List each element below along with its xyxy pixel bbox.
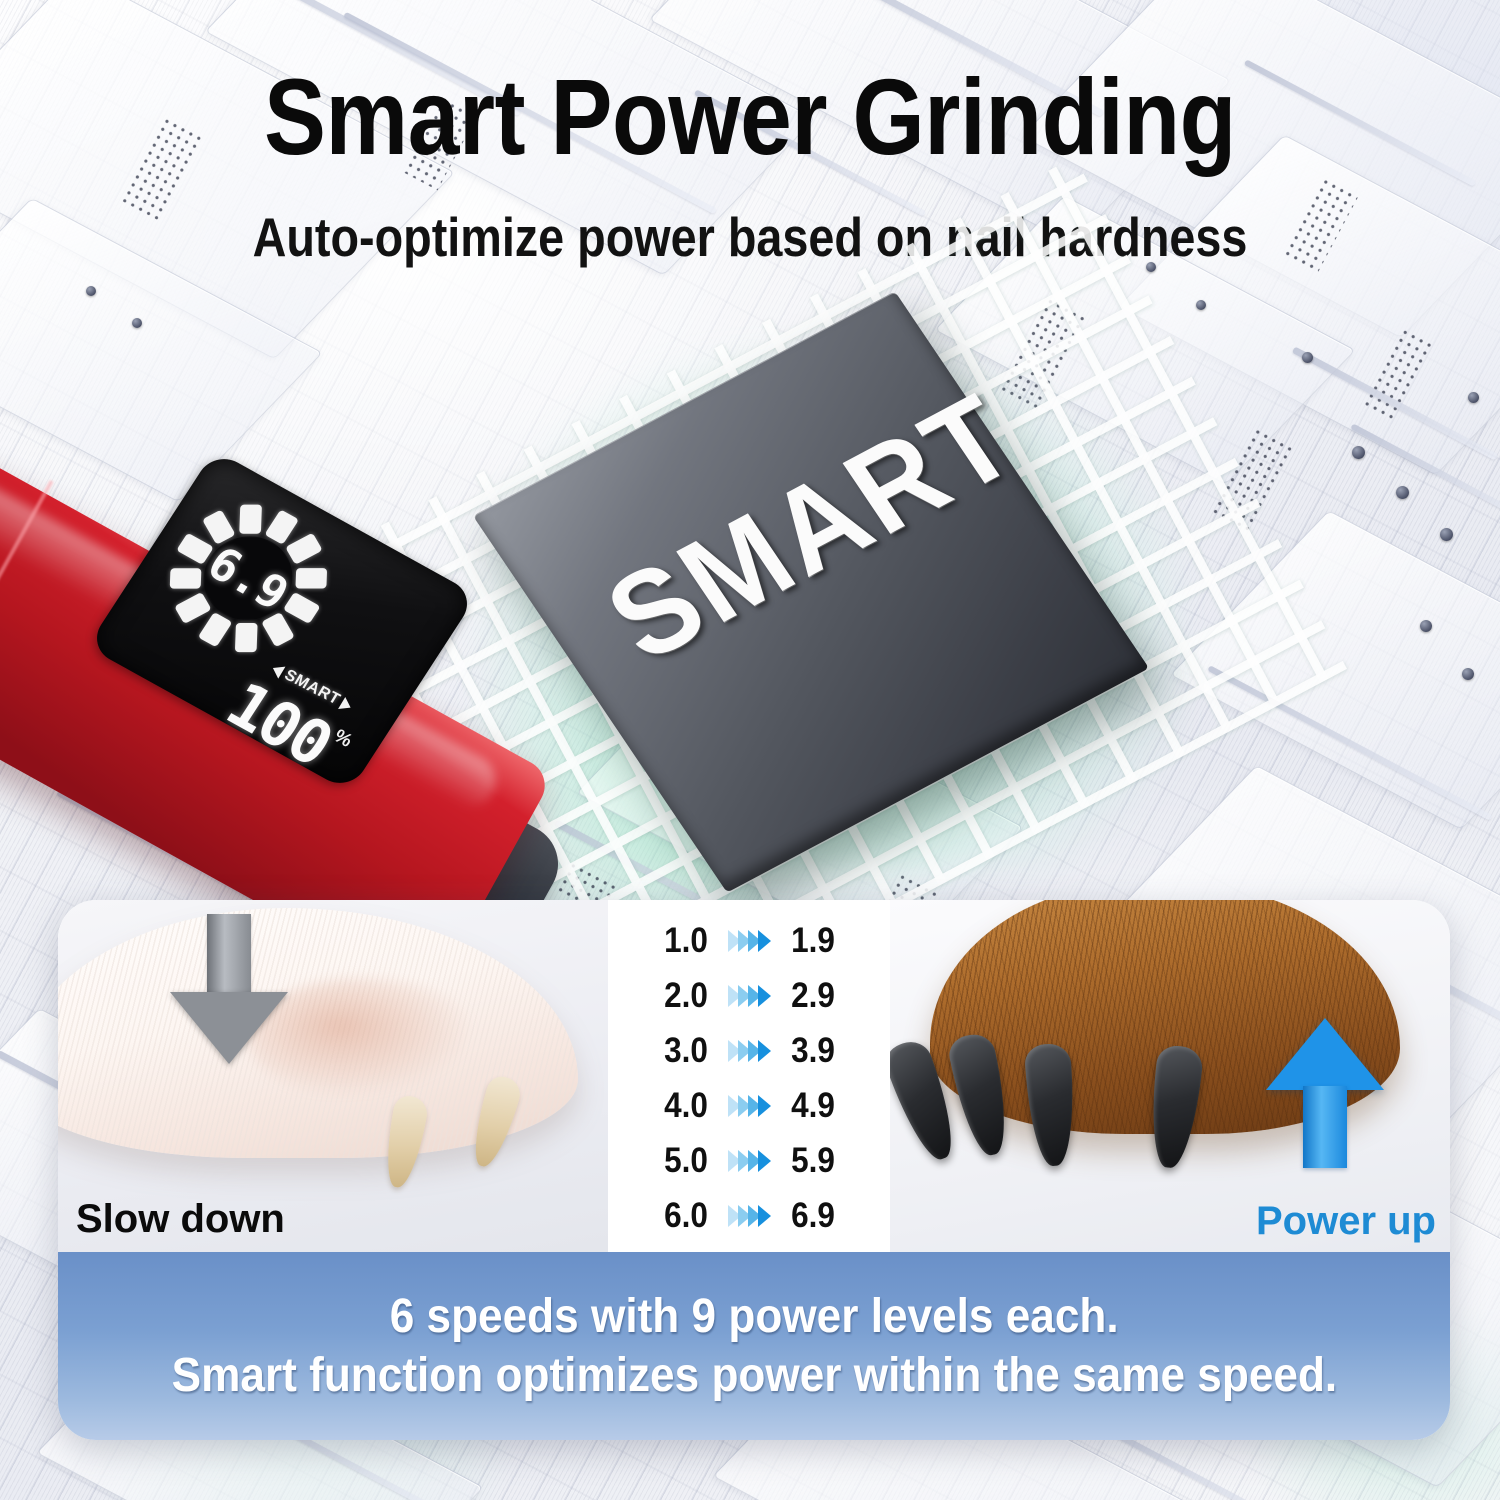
speed-from-value: 2.0 — [658, 976, 714, 1016]
dial-segment — [234, 623, 257, 652]
dial-segment — [239, 504, 262, 533]
speed-from-value: 1.0 — [658, 921, 714, 961]
speed-table-row: 4.04.9 — [608, 1078, 890, 1133]
power-up-pane: Power up — [890, 900, 1450, 1252]
speed-to-value: 1.9 — [785, 921, 841, 961]
chevron-group-icon — [728, 930, 771, 952]
slow-down-pane: Slow down — [58, 900, 608, 1252]
speed-to-value: 5.9 — [785, 1141, 841, 1181]
speed-value: 6.9 — [198, 536, 298, 620]
chevron-right-icon — [758, 1040, 771, 1062]
banner-line-2: Smart function optimizes power within th… — [171, 1348, 1337, 1403]
dial-segment — [174, 592, 211, 624]
speed-from-value: 4.0 — [658, 1086, 714, 1126]
dial-segment — [264, 509, 299, 544]
chevron-right-icon — [758, 1150, 771, 1172]
chevron-group-icon — [728, 1040, 771, 1062]
chevron-right-icon — [758, 930, 771, 952]
speed-dial-core: 6.9 — [187, 521, 309, 635]
speed-from-value: 6.0 — [658, 1196, 714, 1236]
nail-grinder-device: 6.9 SMART 100 % — [0, 300, 700, 980]
speed-to-value: 3.9 — [785, 1031, 841, 1071]
chevron-group-icon — [728, 1095, 771, 1117]
speed-to-value: 6.9 — [785, 1196, 841, 1236]
speed-to-value: 2.9 — [785, 976, 841, 1016]
speed-dial: 6.9 — [140, 477, 356, 678]
speed-table-row: 5.05.9 — [608, 1133, 890, 1188]
speed-table-row: 3.03.9 — [608, 1023, 890, 1078]
chevron-right-icon — [758, 1095, 771, 1117]
dial-segment — [295, 568, 327, 588]
chevron-right-icon — [758, 985, 771, 1007]
smart-right-arrow-icon — [338, 697, 354, 714]
speed-table-row: 6.06.9 — [608, 1188, 890, 1243]
speed-from-value: 5.0 — [658, 1141, 714, 1181]
speed-table-row: 2.02.9 — [608, 968, 890, 1023]
banner-line-1: 6 speeds with 9 power levels each. — [390, 1289, 1119, 1344]
product-feature-image: Smart Power Grinding Auto-optimize power… — [0, 0, 1500, 1500]
speed-table-row: 1.01.9 — [608, 913, 890, 968]
comparison-card: Slow down 1.01.92.02.93.03.94.04.95.05.9… — [58, 900, 1450, 1440]
board-via — [86, 286, 96, 296]
dial-segment — [282, 592, 320, 624]
board-via — [1420, 620, 1432, 632]
summary-banner: 6 speeds with 9 power levels each. Smart… — [58, 1252, 1450, 1440]
board-via — [1462, 668, 1474, 680]
board-via — [1468, 392, 1479, 403]
chevron-right-icon — [758, 1205, 771, 1227]
arrow-up-icon — [1266, 1018, 1384, 1168]
dial-segment — [197, 612, 232, 647]
chevron-group-icon — [728, 985, 771, 1007]
chevron-group-icon — [728, 1205, 771, 1227]
dial-segment — [169, 568, 201, 588]
power-up-caption: Power up — [1256, 1199, 1436, 1244]
chevron-group-icon — [728, 1150, 771, 1172]
dial-segment — [285, 532, 322, 564]
page-subtitle: Auto-optimize power based on nail hardne… — [113, 205, 1388, 269]
arrow-down-icon — [170, 914, 288, 1064]
speed-power-table: 1.01.92.02.93.03.94.04.95.05.96.06.9 — [608, 900, 890, 1252]
comparison-panes: Slow down 1.01.92.02.93.03.94.04.95.05.9… — [58, 900, 1450, 1252]
black-claw — [1024, 1043, 1078, 1168]
page-title: Smart Power Grinding — [105, 62, 1395, 172]
board-via — [1440, 528, 1453, 541]
speed-from-value: 3.0 — [658, 1031, 714, 1071]
speed-to-value: 4.9 — [785, 1086, 841, 1126]
slow-down-caption: Slow down — [76, 1197, 285, 1242]
